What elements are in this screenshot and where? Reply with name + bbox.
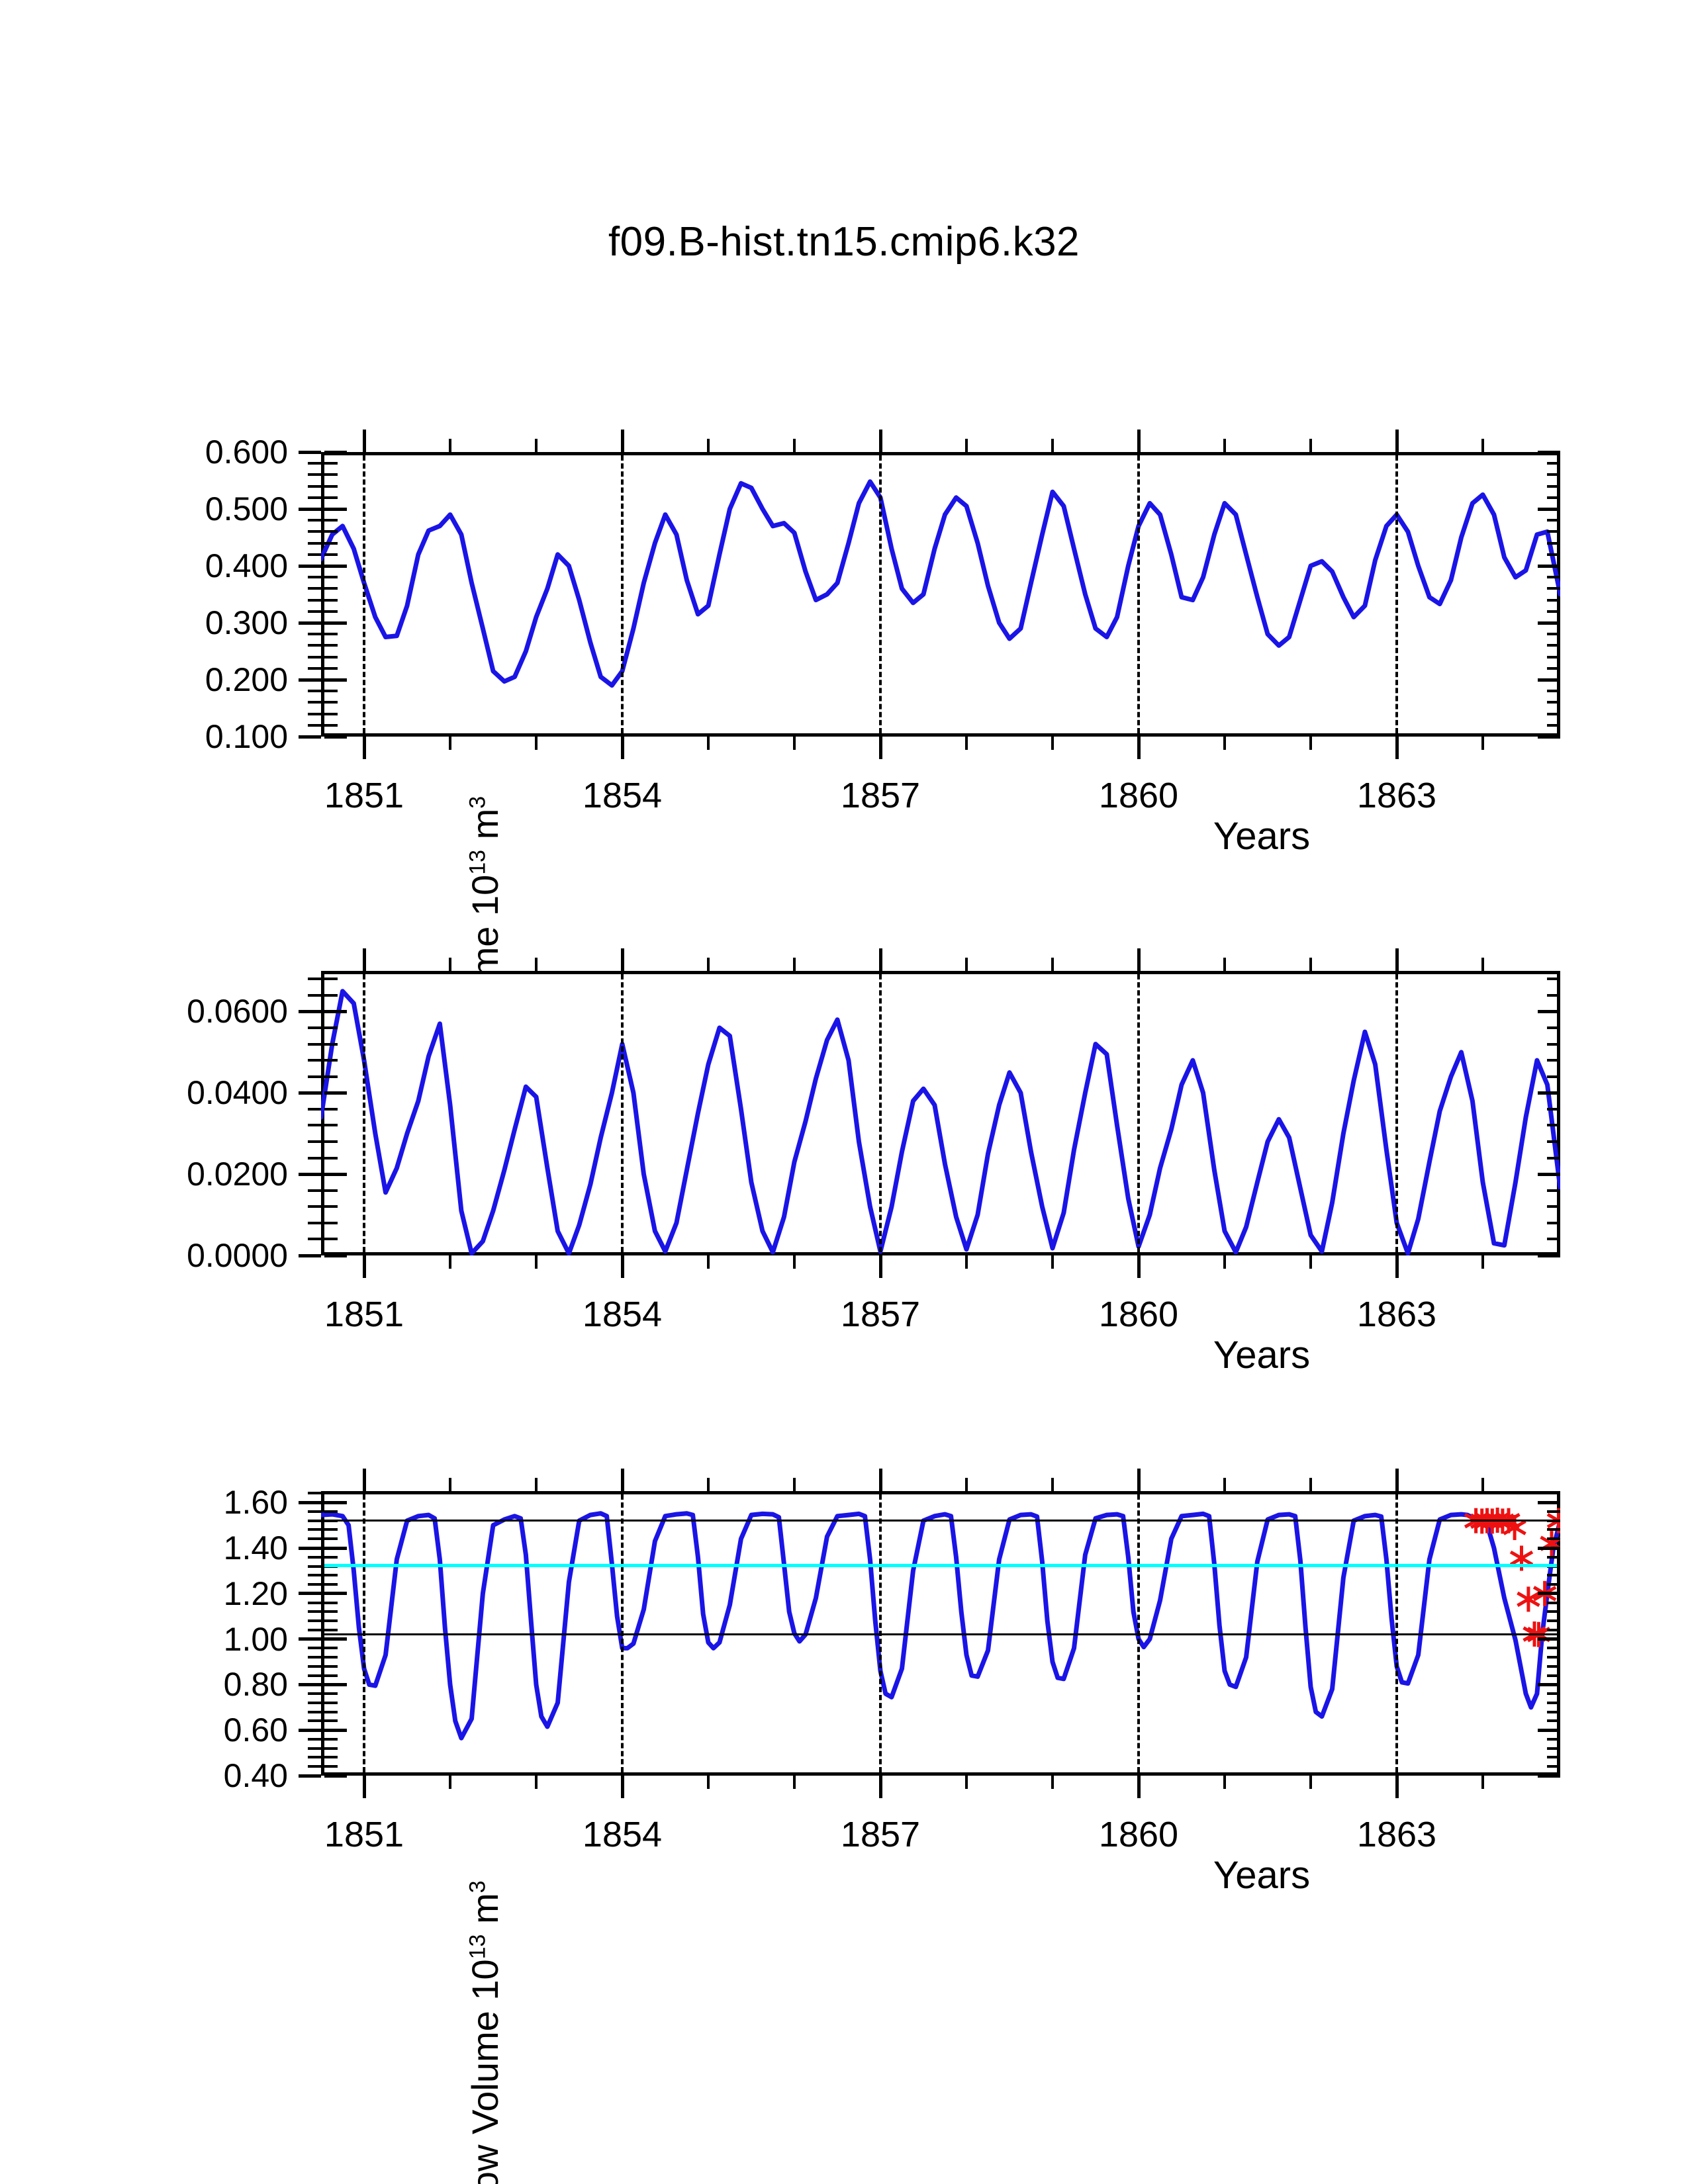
y-tick-major-right	[1538, 1547, 1560, 1550]
x-tick-minor-top	[793, 439, 796, 452]
x-tick-major-bottom	[879, 737, 882, 759]
x-tick-major-top	[1395, 1469, 1399, 1491]
y-tick-minor-right	[1547, 1610, 1560, 1613]
y-tick-minor	[308, 667, 321, 670]
y-tick-minor-inner	[324, 1157, 338, 1160]
y-tick-minor-right	[1547, 1656, 1560, 1659]
x-tick-minor-bottom	[1051, 1255, 1054, 1269]
y-tick-major-right	[1538, 1091, 1560, 1095]
y-tick-minor	[308, 1747, 321, 1750]
x-tick-major-bottom	[1137, 1255, 1141, 1278]
vertical-reference-line	[363, 455, 365, 733]
vertical-reference-line	[363, 974, 365, 1252]
y-tick-minor-inner	[324, 1510, 338, 1513]
x-tick-minor-bottom	[793, 737, 796, 750]
x-tick-label: 1851	[278, 1814, 450, 1855]
y-tick-major-inner	[324, 1254, 347, 1257]
y-tick-minor	[308, 1719, 321, 1722]
x-tick-label: 1854	[536, 1814, 708, 1855]
y-tick-minor	[308, 462, 321, 465]
y-tick-minor	[308, 1756, 321, 1758]
y-tick-major-right	[1538, 565, 1560, 568]
y-tick-minor-right	[1547, 1528, 1560, 1531]
y-tick-minor	[308, 1043, 321, 1046]
y-tick-minor-inner	[324, 1492, 338, 1494]
y-tick-minor	[308, 1026, 321, 1029]
x-tick-major-bottom	[1137, 737, 1141, 759]
vertical-reference-line	[879, 974, 882, 1252]
y-tick-major-right	[1538, 1173, 1560, 1176]
vertical-reference-line	[1395, 455, 1398, 733]
x-tick-minor-top	[1309, 439, 1312, 452]
y-tick-minor	[308, 576, 321, 578]
y-tick-minor-right	[1547, 1140, 1560, 1143]
x-tick-minor-bottom	[707, 737, 710, 750]
x-tick-major-top	[1395, 430, 1399, 452]
vertical-reference-line	[621, 455, 624, 733]
y-tick-minor	[308, 1711, 321, 1713]
x-tick-major-top	[621, 430, 624, 452]
y-tick-minor-right	[1547, 1556, 1560, 1559]
y-tick-minor	[308, 1108, 321, 1111]
x-tick-major-top	[879, 1469, 882, 1491]
y-tick-minor-right	[1547, 1583, 1560, 1586]
x-tick-label: 1860	[1053, 1814, 1225, 1855]
y-tick-minor-inner	[324, 1647, 338, 1649]
y-tick-minor	[308, 1565, 321, 1568]
y-tick-minor	[308, 1222, 321, 1224]
y-axis-label-unit: m	[464, 809, 506, 850]
x-tick-major-top	[1137, 948, 1141, 971]
x-tick-minor-bottom	[1223, 1776, 1226, 1789]
x-tick-minor-top	[965, 439, 968, 452]
y-tick-minor-right	[1547, 1629, 1560, 1631]
y-tick-minor-inner	[324, 724, 338, 727]
x-tick-minor-top	[1223, 439, 1226, 452]
y-tick-minor	[308, 1647, 321, 1649]
y-tick-minor-right	[1547, 978, 1560, 980]
y-tick-major	[299, 565, 321, 568]
x-tick-minor-bottom	[1481, 1255, 1484, 1269]
figure-canvas: f09.B-hist.tn15.cmip6.k32 Beau Ice Volum…	[0, 0, 1688, 2184]
y-tick-minor	[308, 1205, 321, 1208]
y-tick-minor	[308, 496, 321, 499]
y-tick-minor	[308, 978, 321, 980]
x-tick-minor-top	[707, 439, 710, 452]
y-tick-minor	[308, 1665, 321, 1668]
y-tick-minor-right	[1547, 496, 1560, 499]
x-tick-minor-top	[965, 1478, 968, 1491]
y-tick-minor-right	[1547, 553, 1560, 556]
x-tick-minor-top	[1481, 958, 1484, 971]
y-tick-major	[299, 1683, 321, 1686]
y-tick-minor-right	[1547, 485, 1560, 488]
y-tick-minor-inner	[324, 1059, 338, 1062]
y-axis-label-exponent: 13	[465, 1934, 490, 1960]
y-tick-major-right	[1538, 621, 1560, 625]
x-tick-minor-top	[1309, 1478, 1312, 1491]
y-tick-major-inner	[324, 1173, 347, 1176]
x-tick-major-top	[1137, 1469, 1141, 1491]
y-tick-major	[299, 1010, 321, 1013]
x-tick-minor-top	[1051, 1478, 1054, 1491]
y-tick-minor-inner	[324, 644, 338, 647]
x-tick-minor-bottom	[535, 737, 538, 750]
x-tick-minor-top	[449, 958, 451, 971]
y-tick-minor	[308, 1059, 321, 1062]
panel-snow-volume: Beau Snow Volume 1013 m3 Years	[321, 971, 1560, 1255]
x-tick-minor-top	[1223, 958, 1226, 971]
y-tick-minor	[308, 1629, 321, 1631]
x-tick-major-bottom	[1137, 1776, 1141, 1798]
y-tick-minor	[308, 1157, 321, 1160]
y-tick-minor-inner	[324, 1574, 338, 1576]
y-tick-minor-inner	[324, 1765, 338, 1768]
y-tick-minor-right	[1547, 724, 1560, 727]
y-tick-minor	[308, 599, 321, 602]
y-tick-minor	[308, 1574, 321, 1576]
x-tick-minor-top	[707, 1478, 710, 1491]
y-tick-major	[299, 1173, 321, 1176]
x-tick-minor-bottom	[1309, 737, 1312, 750]
x-tick-major-bottom	[621, 737, 624, 759]
x-axis-label-panel3: Years	[510, 1853, 1688, 1897]
threshold-reference-line	[324, 1520, 1557, 1522]
x-tick-minor-top	[535, 1478, 538, 1491]
y-tick-minor-right	[1547, 1043, 1560, 1046]
y-tick-minor	[308, 1537, 321, 1540]
x-tick-minor-top	[535, 439, 538, 452]
y-tick-minor-inner	[324, 1656, 338, 1659]
y-tick-minor	[308, 713, 321, 715]
y-tick-major	[299, 621, 321, 625]
y-axis-label-unit: m	[464, 1893, 506, 1934]
x-tick-major-top	[363, 948, 366, 971]
x-tick-minor-bottom	[449, 1255, 451, 1269]
y-tick-major	[299, 1729, 321, 1732]
x-tick-label: 1851	[278, 1294, 450, 1335]
y-axis-label-unit-exponent: 3	[465, 796, 490, 809]
y-tick-major-right	[1538, 1774, 1560, 1778]
y-tick-minor	[308, 1619, 321, 1622]
y-axis-label-exponent: 13	[465, 850, 490, 875]
y-tick-minor-inner	[324, 1528, 338, 1531]
y-tick-minor-inner	[324, 1702, 338, 1704]
y-tick-minor-right	[1547, 462, 1560, 465]
y-tick-label: 0.400	[70, 547, 288, 585]
y-tick-major-inner	[324, 735, 347, 739]
y-tick-major	[299, 1501, 321, 1504]
y-tick-minor	[308, 1738, 321, 1741]
y-tick-minor-inner	[324, 1719, 338, 1722]
y-tick-minor-right	[1547, 1747, 1560, 1750]
y-tick-minor-right	[1547, 576, 1560, 578]
x-tick-label: 1854	[536, 775, 708, 816]
y-tick-major-right	[1538, 678, 1560, 682]
y-tick-minor-inner	[324, 1619, 338, 1622]
y-tick-minor	[308, 1075, 321, 1078]
x-tick-major-bottom	[1395, 1255, 1399, 1278]
y-tick-minor-right	[1547, 587, 1560, 590]
x-tick-minor-bottom	[1309, 1776, 1312, 1789]
x-tick-minor-bottom	[1481, 737, 1484, 750]
y-tick-major-inner	[324, 1547, 347, 1550]
y-tick-minor-inner	[324, 599, 338, 602]
y-tick-minor	[308, 1189, 321, 1192]
y-tick-minor-inner	[324, 1043, 338, 1046]
data-curve	[321, 991, 1560, 1253]
y-tick-minor-inner	[324, 1026, 338, 1029]
x-tick-minor-bottom	[1223, 737, 1226, 750]
x-tick-label: 1860	[1053, 1294, 1225, 1335]
y-tick-minor-inner	[324, 1108, 338, 1111]
y-tick-minor-right	[1547, 1711, 1560, 1713]
y-tick-label: 1.40	[70, 1529, 288, 1567]
y-tick-minor-right	[1547, 1124, 1560, 1126]
y-tick-minor-inner	[324, 519, 338, 522]
y-tick-minor	[308, 1124, 321, 1126]
panel-ice-volume: Beau Ice Volume 1013 m3 Years	[321, 452, 1560, 737]
x-tick-minor-bottom	[793, 1255, 796, 1269]
y-tick-minor	[308, 633, 321, 635]
y-tick-minor-inner	[324, 633, 338, 635]
y-tick-minor-inner	[324, 473, 338, 476]
y-tick-major-right	[1538, 735, 1560, 739]
x-tick-major-bottom	[363, 1255, 366, 1278]
y-tick-minor-inner	[324, 1738, 338, 1741]
y-tick-minor-right	[1547, 1719, 1560, 1722]
x-tick-minor-top	[793, 958, 796, 971]
y-tick-minor-right	[1547, 1574, 1560, 1576]
y-tick-major	[299, 508, 321, 511]
y-tick-label: 0.0600	[70, 992, 288, 1030]
y-tick-minor-right	[1547, 690, 1560, 692]
x-tick-label: 1863	[1311, 775, 1483, 816]
y-tick-minor-inner	[324, 1711, 338, 1713]
y-tick-minor-right	[1547, 1238, 1560, 1240]
y-tick-minor	[308, 1610, 321, 1613]
y-tick-minor-right	[1547, 633, 1560, 635]
y-tick-minor	[308, 1674, 321, 1677]
y-tick-minor-right	[1547, 1692, 1560, 1695]
y-tick-major	[299, 1592, 321, 1595]
y-tick-minor	[308, 1656, 321, 1659]
y-tick-major-right	[1538, 1637, 1560, 1641]
vertical-reference-line	[1137, 455, 1140, 733]
y-tick-minor-inner	[324, 1124, 338, 1126]
x-tick-minor-top	[1309, 958, 1312, 971]
y-axis-label-text: Beau Snow Volume 10	[464, 1959, 506, 2184]
x-tick-major-top	[1137, 430, 1141, 452]
x-tick-minor-top	[965, 958, 968, 971]
y-tick-minor-inner	[324, 701, 338, 704]
x-tick-minor-bottom	[535, 1255, 538, 1269]
x-tick-minor-bottom	[1051, 737, 1054, 750]
y-tick-minor-inner	[324, 1747, 338, 1750]
x-tick-minor-top	[793, 1478, 796, 1491]
y-tick-major-inner	[324, 565, 347, 568]
x-tick-minor-top	[1051, 439, 1054, 452]
y-tick-minor-inner	[324, 1205, 338, 1208]
x-tick-minor-top	[1223, 1478, 1226, 1491]
x-tick-label: 1854	[536, 1294, 708, 1335]
x-tick-minor-bottom	[1481, 1776, 1484, 1789]
y-tick-minor-right	[1547, 599, 1560, 602]
y-tick-minor	[308, 1702, 321, 1704]
y-tick-minor-inner	[324, 485, 338, 488]
y-tick-minor	[308, 587, 321, 590]
y-tick-minor	[308, 1510, 321, 1513]
x-tick-minor-bottom	[965, 1776, 968, 1789]
y-tick-minor-right	[1547, 1059, 1560, 1062]
y-tick-minor	[308, 1692, 321, 1695]
y-tick-minor-inner	[324, 1222, 338, 1224]
y-tick-minor-inner	[324, 462, 338, 465]
x-tick-minor-top	[1481, 1478, 1484, 1491]
y-tick-minor-inner	[324, 1674, 338, 1677]
y-tick-major-right	[1538, 1010, 1560, 1013]
y-tick-major-inner	[324, 1010, 347, 1013]
y-tick-minor-right	[1547, 1619, 1560, 1622]
y-tick-minor-right	[1547, 1602, 1560, 1604]
y-tick-minor-right	[1547, 610, 1560, 613]
y-tick-minor	[308, 644, 321, 647]
y-tick-label: 0.600	[70, 433, 288, 471]
x-tick-label: 1863	[1311, 1814, 1483, 1855]
y-tick-major	[299, 451, 321, 454]
y-tick-minor-inner	[324, 978, 338, 980]
y-tick-minor-inner	[324, 690, 338, 692]
y-tick-minor-inner	[324, 553, 338, 556]
x-tick-minor-top	[449, 1478, 451, 1491]
vertical-reference-line	[1395, 974, 1398, 1252]
x-tick-minor-bottom	[1051, 1776, 1054, 1789]
x-tick-major-top	[363, 1469, 366, 1491]
y-tick-minor-inner	[324, 667, 338, 670]
y-tick-major-inner	[324, 1637, 347, 1641]
x-tick-minor-bottom	[793, 1776, 796, 1789]
y-tick-minor-inner	[324, 1583, 338, 1586]
y-tick-minor-inner	[324, 587, 338, 590]
y-tick-major-inner	[324, 678, 347, 682]
y-tick-major-right	[1538, 1254, 1560, 1257]
y-tick-minor-inner	[324, 1238, 338, 1240]
y-tick-minor	[308, 1140, 321, 1143]
mean-reference-line	[324, 1564, 1557, 1567]
y-tick-minor-right	[1547, 1665, 1560, 1668]
x-tick-minor-bottom	[449, 1776, 451, 1789]
y-tick-minor-inner	[324, 1629, 338, 1631]
y-tick-major-right	[1538, 1729, 1560, 1732]
x-tick-major-top	[621, 1469, 624, 1491]
x-tick-minor-top	[535, 958, 538, 971]
y-tick-major	[299, 1254, 321, 1257]
x-tick-label: 1851	[278, 775, 450, 816]
page-title: f09.B-hist.tn15.cmip6.k32	[0, 218, 1688, 265]
y-tick-minor	[308, 1492, 321, 1494]
vertical-reference-line	[1137, 974, 1140, 1252]
y-tick-major-inner	[324, 1774, 347, 1778]
y-tick-minor-right	[1547, 1205, 1560, 1208]
y-tick-minor-right	[1547, 519, 1560, 522]
y-tick-minor-inner	[324, 576, 338, 578]
y-tick-minor	[308, 530, 321, 533]
x-axis-label-panel1: Years	[510, 814, 1688, 858]
y-tick-major-right	[1538, 1592, 1560, 1595]
y-tick-major-inner	[324, 1592, 347, 1595]
y-tick-label: 0.100	[70, 717, 288, 756]
y-tick-minor	[308, 1765, 321, 1768]
x-tick-minor-bottom	[535, 1776, 538, 1789]
y-tick-minor	[308, 724, 321, 727]
y-tick-minor-inner	[324, 656, 338, 659]
x-tick-label: 1860	[1053, 775, 1225, 816]
x-tick-minor-top	[449, 439, 451, 452]
y-tick-minor	[308, 473, 321, 476]
y-tick-minor-inner	[324, 1537, 338, 1540]
y-tick-minor	[308, 1520, 321, 1522]
x-tick-minor-bottom	[1309, 1255, 1312, 1269]
y-tick-minor	[308, 1583, 321, 1586]
y-tick-minor-right	[1547, 656, 1560, 659]
y-tick-minor-inner	[324, 530, 338, 533]
y-tick-label: 0.300	[70, 604, 288, 642]
x-tick-major-bottom	[879, 1255, 882, 1278]
y-tick-label: 0.0200	[70, 1155, 288, 1193]
scatter-marker	[1541, 1531, 1563, 1556]
y-tick-label: 0.0400	[70, 1073, 288, 1112]
y-tick-minor-right	[1547, 667, 1560, 670]
y-tick-minor-right	[1547, 1702, 1560, 1704]
y-tick-minor-right	[1547, 1647, 1560, 1649]
y-tick-major-inner	[324, 1683, 347, 1686]
vertical-reference-line	[621, 974, 624, 1252]
x-tick-major-top	[621, 948, 624, 971]
x-tick-major-top	[879, 948, 882, 971]
x-tick-major-bottom	[1395, 1776, 1399, 1798]
y-tick-minor-right	[1547, 1222, 1560, 1224]
y-tick-minor-right	[1547, 1674, 1560, 1677]
y-tick-major-inner	[324, 621, 347, 625]
y-tick-minor-right	[1547, 1510, 1560, 1513]
y-tick-minor	[308, 1238, 321, 1240]
y-tick-label: 0.0000	[70, 1236, 288, 1275]
y-tick-major	[299, 678, 321, 682]
y-tick-major-inner	[324, 508, 347, 511]
x-tick-minor-top	[707, 958, 710, 971]
y-tick-label: 0.500	[70, 490, 288, 528]
x-tick-major-bottom	[363, 737, 366, 759]
y-tick-minor-inner	[324, 713, 338, 715]
y-tick-major-inner	[324, 1091, 347, 1095]
x-tick-minor-bottom	[707, 1255, 710, 1269]
y-tick-minor-inner	[324, 994, 338, 997]
y-tick-minor-right	[1547, 1108, 1560, 1111]
y-tick-label: 0.200	[70, 660, 288, 699]
y-tick-minor	[308, 1602, 321, 1604]
x-tick-label: 1857	[794, 1294, 966, 1335]
y-tick-major-right	[1538, 1683, 1560, 1686]
y-tick-minor-right	[1547, 1537, 1560, 1540]
x-tick-major-bottom	[621, 1255, 624, 1278]
y-tick-major-right	[1538, 1501, 1560, 1504]
y-tick-major-inner	[324, 1501, 347, 1504]
y-tick-minor-inner	[324, 542, 338, 545]
x-tick-label: 1863	[1311, 1294, 1483, 1335]
threshold-reference-line	[324, 1633, 1557, 1635]
y-tick-minor-right	[1547, 994, 1560, 997]
x-tick-major-bottom	[363, 1776, 366, 1798]
